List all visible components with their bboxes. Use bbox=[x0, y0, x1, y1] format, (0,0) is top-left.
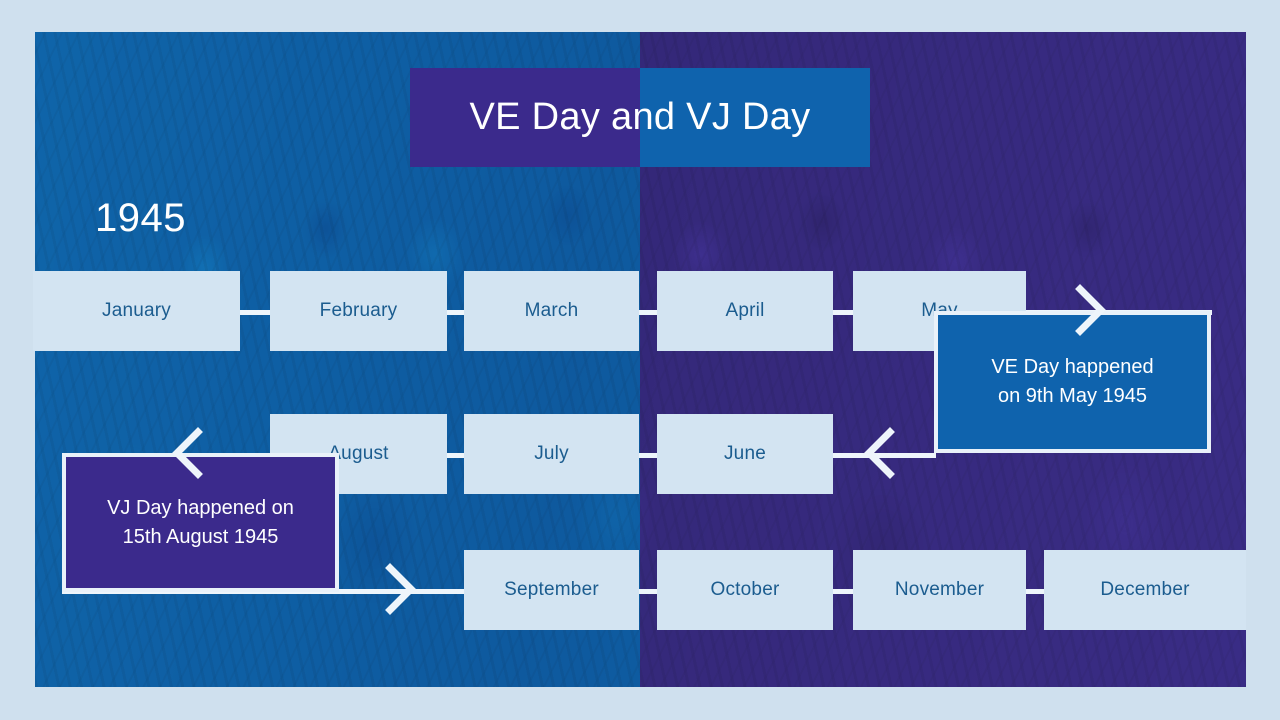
chevron-right-icon-after-may bbox=[1074, 284, 1108, 336]
connector-mar-apr bbox=[639, 310, 659, 315]
page-title: VE Day and VJ Day bbox=[410, 68, 870, 167]
title-banner: VE Day and VJ Day bbox=[410, 68, 870, 167]
connector-oct-nov bbox=[833, 589, 853, 594]
connector-apr-may bbox=[833, 310, 853, 315]
callout-vj-day-text: VJ Day happened on 15th August 1945 bbox=[107, 494, 294, 552]
chevron-right-icon-before-september bbox=[384, 563, 418, 615]
month-chip-september[interactable]: September bbox=[464, 550, 639, 630]
month-chip-november[interactable]: November bbox=[853, 550, 1026, 630]
month-chip-march[interactable]: March bbox=[464, 271, 639, 351]
callout-ve-day-line2: on 9th May 1945 bbox=[991, 382, 1153, 411]
month-chip-july[interactable]: July bbox=[464, 414, 639, 494]
callout-ve-day-line1: VE Day happened bbox=[991, 353, 1153, 382]
connector-july-june bbox=[639, 453, 659, 458]
connector-jan-feb bbox=[240, 310, 272, 315]
month-chip-february[interactable]: February bbox=[270, 271, 447, 351]
connector-august-july bbox=[447, 453, 465, 458]
month-chip-june[interactable]: June bbox=[657, 414, 833, 494]
year-label: 1945 bbox=[95, 196, 186, 241]
chevron-left-icon-before-june bbox=[862, 427, 896, 479]
callout-ve-day-text: VE Day happened on 9th May 1945 bbox=[991, 353, 1153, 411]
connector-nov-dec bbox=[1026, 589, 1044, 594]
callout-vj-day-line1: VJ Day happened on bbox=[107, 494, 294, 523]
slide-canvas: VE Day and VJ Day 1945 January February … bbox=[0, 0, 1280, 720]
callout-vj-day-line2: 15th August 1945 bbox=[107, 523, 294, 552]
month-chip-december[interactable]: December bbox=[1044, 550, 1246, 630]
connector-feb-mar bbox=[447, 310, 465, 315]
month-chip-january[interactable]: January bbox=[33, 271, 240, 351]
chevron-left-icon-before-august bbox=[170, 427, 204, 479]
callout-ve-day: VE Day happened on 9th May 1945 bbox=[934, 311, 1211, 453]
connector-sep-oct bbox=[639, 589, 659, 594]
month-chip-april[interactable]: April bbox=[657, 271, 833, 351]
month-chip-october[interactable]: October bbox=[657, 550, 833, 630]
